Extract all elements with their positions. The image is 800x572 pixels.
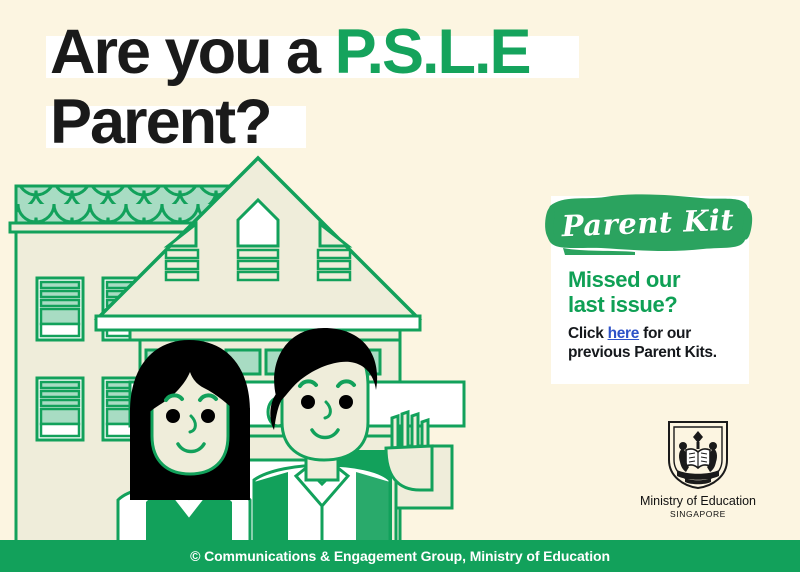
parent-kit-body: Click here for our previous Parent Kits. xyxy=(568,324,748,363)
headline-emphasis-psle: P.S.L.E xyxy=(335,17,530,87)
moe-logo: Ministry of Education SINGAPORE xyxy=(628,420,768,519)
moe-logo-country: SINGAPORE xyxy=(628,509,768,519)
boy-eye-right xyxy=(339,395,353,409)
parent-kit-body-prefix: Click xyxy=(568,325,608,342)
girl-eye-right xyxy=(201,409,215,423)
headline-band-2: Parent? xyxy=(46,106,306,148)
footer-copyright: © Communications & Engagement Group, Min… xyxy=(190,548,610,564)
parent-kit-card[interactable]: Parent Kit Missed our last issue? Click … xyxy=(551,196,749,384)
poster-canvas: Are you a P.S.L.E Parent? xyxy=(0,0,800,572)
illustration-svg xyxy=(0,150,520,545)
page-title: Are you a P.S.L.E Parent? xyxy=(46,14,686,154)
headline-line-2-text: Parent? xyxy=(50,91,271,154)
singapore-crest-icon xyxy=(665,420,731,490)
headline-plain-1: Are you a xyxy=(50,17,335,87)
parent-kit-body-line-2: previous Parent Kits. xyxy=(568,343,748,362)
parent-kit-heading: Missed our last issue? xyxy=(568,268,738,317)
headline-line-2: Parent? xyxy=(46,84,686,148)
left-wing-window xyxy=(37,278,83,340)
illustration-scene xyxy=(10,158,464,545)
headline-line-1: Are you a P.S.L.E xyxy=(46,14,686,78)
parent-kit-heading-line-2: last issue? xyxy=(568,293,738,318)
parent-kit-heading-line-1: Missed our xyxy=(568,268,738,293)
girl-eye-left xyxy=(166,409,180,423)
moe-logo-name: Ministry of Education xyxy=(628,494,768,508)
school-illustration xyxy=(0,150,520,545)
parent-kit-brush-banner: Parent Kit xyxy=(543,190,753,256)
headline-band-1: Are you a P.S.L.E xyxy=(46,36,579,78)
parent-kit-body-middle: for our xyxy=(639,325,691,342)
footer-bar: © Communications & Engagement Group, Min… xyxy=(0,540,800,572)
boy-eye-left xyxy=(301,395,315,409)
gable-centre-window xyxy=(238,200,278,280)
previous-parent-kits-link[interactable]: here xyxy=(608,325,640,342)
headline-line-1-text: Are you a P.S.L.E xyxy=(50,21,530,84)
left-wing-window xyxy=(37,378,83,440)
parent-kit-title: Parent Kit xyxy=(542,186,754,260)
